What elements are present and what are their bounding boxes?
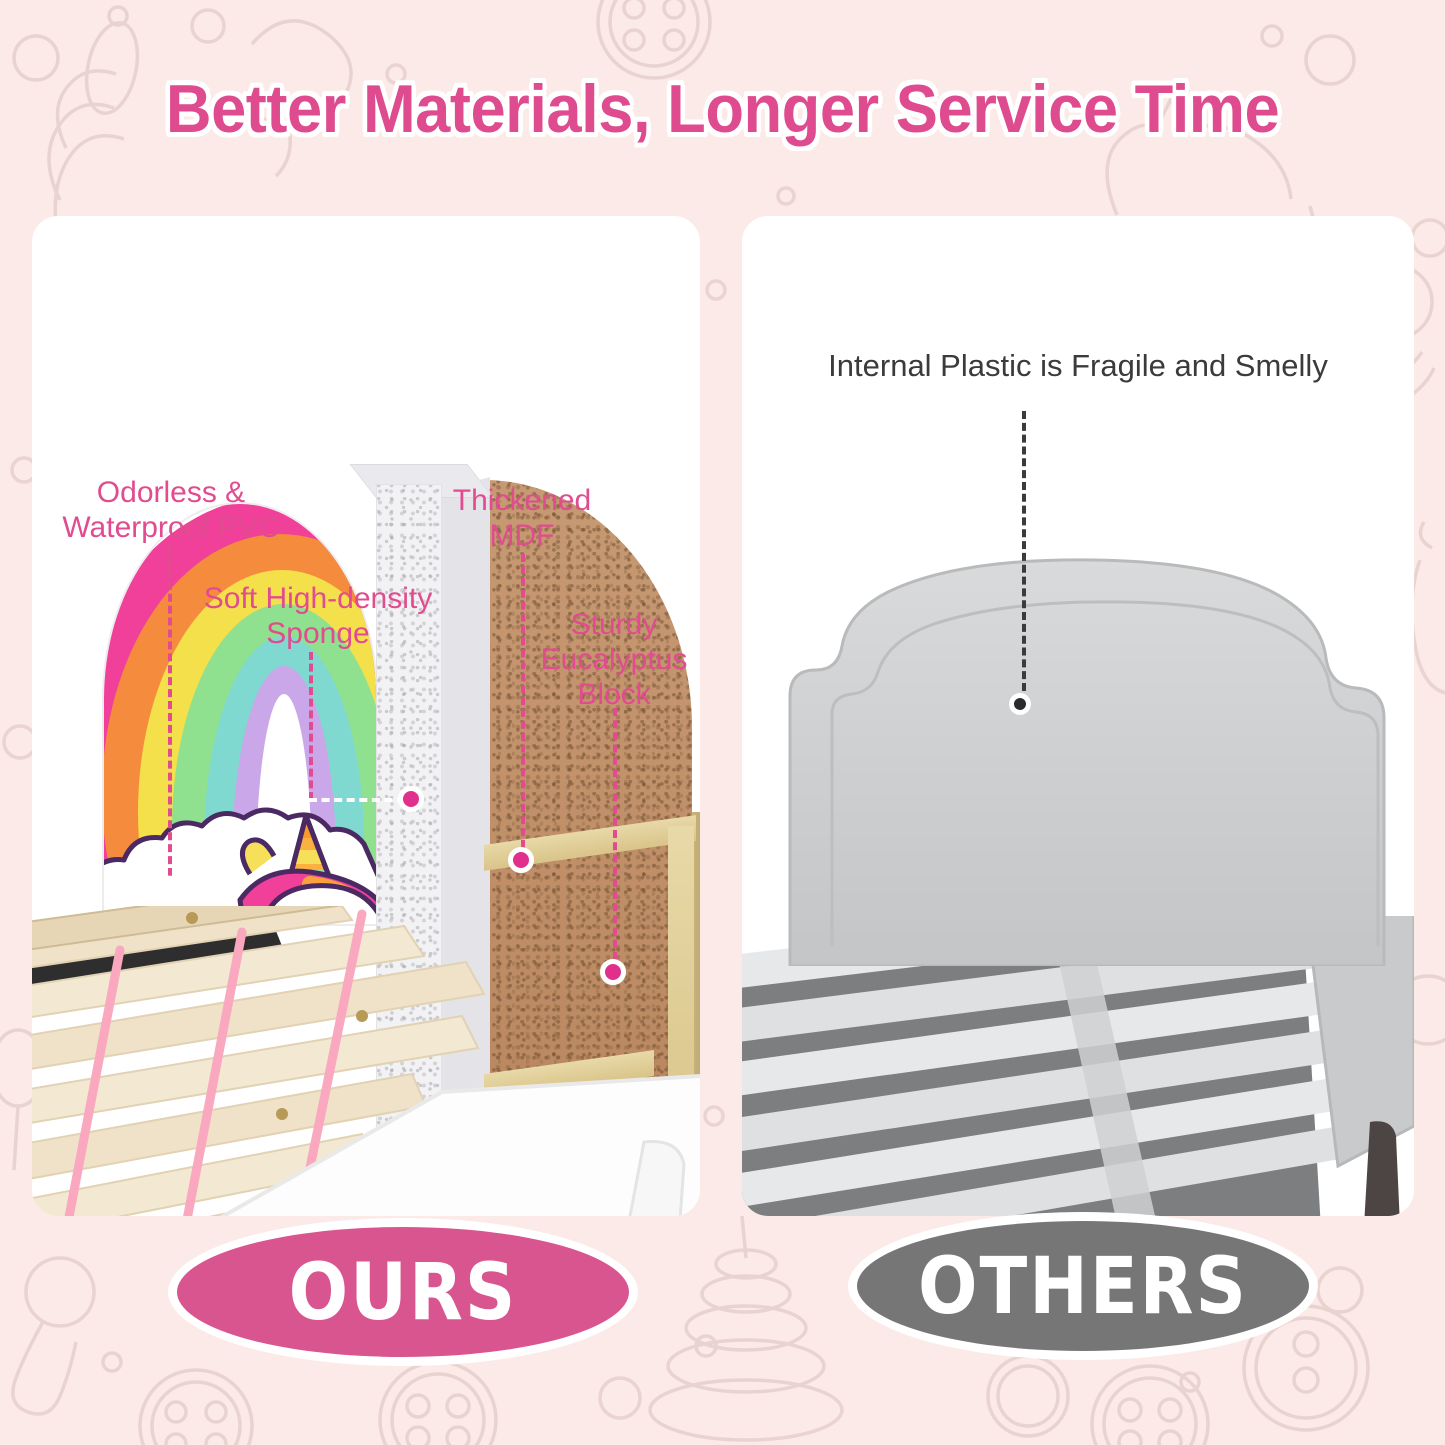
button-doodle-bottom-left: [140, 1370, 252, 1445]
button-doodle-bottom-right-2: [1092, 1366, 1208, 1445]
button-doodle-bottom-center: [380, 1362, 496, 1445]
rattle-doodle-bottom-left: [13, 1258, 94, 1414]
callout-label-pvc: Odorless & Waterproof PVC: [56, 476, 286, 546]
callout-label-eucalyptus: Sturdy Eucalyptus Block: [516, 608, 700, 712]
dot-marker-sponge: [398, 786, 424, 812]
ours-product-photo: [32, 216, 700, 1216]
leader-plastic: [1022, 411, 1026, 691]
page-title: Better Materials, Longer Service Time: [166, 70, 1279, 148]
callout-label-sponge: Soft High-density Sponge: [187, 582, 449, 652]
button-doodle-bottom-right-3: [988, 1356, 1068, 1436]
dot-marker-pvc: [155, 877, 181, 903]
dot-marker-plastic: [1009, 693, 1031, 715]
panel-others: Internal Plastic is Fragile and Smelly: [742, 216, 1414, 1216]
stacking-ring-doodle: [650, 1216, 842, 1440]
badge-others-label: OTHERS: [918, 1240, 1248, 1332]
leader-pvc: [168, 546, 172, 876]
callout-label-plastic: Internal Plastic is Fragile and Smelly: [762, 348, 1394, 384]
badge-ours: OURS: [168, 1218, 638, 1366]
dot-marker-eucalyptus: [600, 959, 626, 985]
badge-others: OTHERS: [848, 1212, 1318, 1360]
gray-headboard: [772, 546, 1412, 966]
title-bar: Better Materials, Longer Service Time: [0, 0, 1445, 218]
unicorn-headboard-graphic: [104, 504, 376, 924]
panel-ours: Odorless & Waterproof PVC Soft High-dens…: [32, 216, 700, 1216]
badge-ours-label: OURS: [289, 1246, 518, 1338]
bottle-doodle-right: [1412, 522, 1445, 694]
bed-base-ours: [32, 906, 700, 1216]
dot-marker-mdf: [508, 847, 534, 873]
callout-label-mdf: Thickened MDF: [422, 484, 622, 554]
leader-sponge: [309, 652, 313, 800]
leader-sponge-horizontal: [309, 798, 405, 802]
